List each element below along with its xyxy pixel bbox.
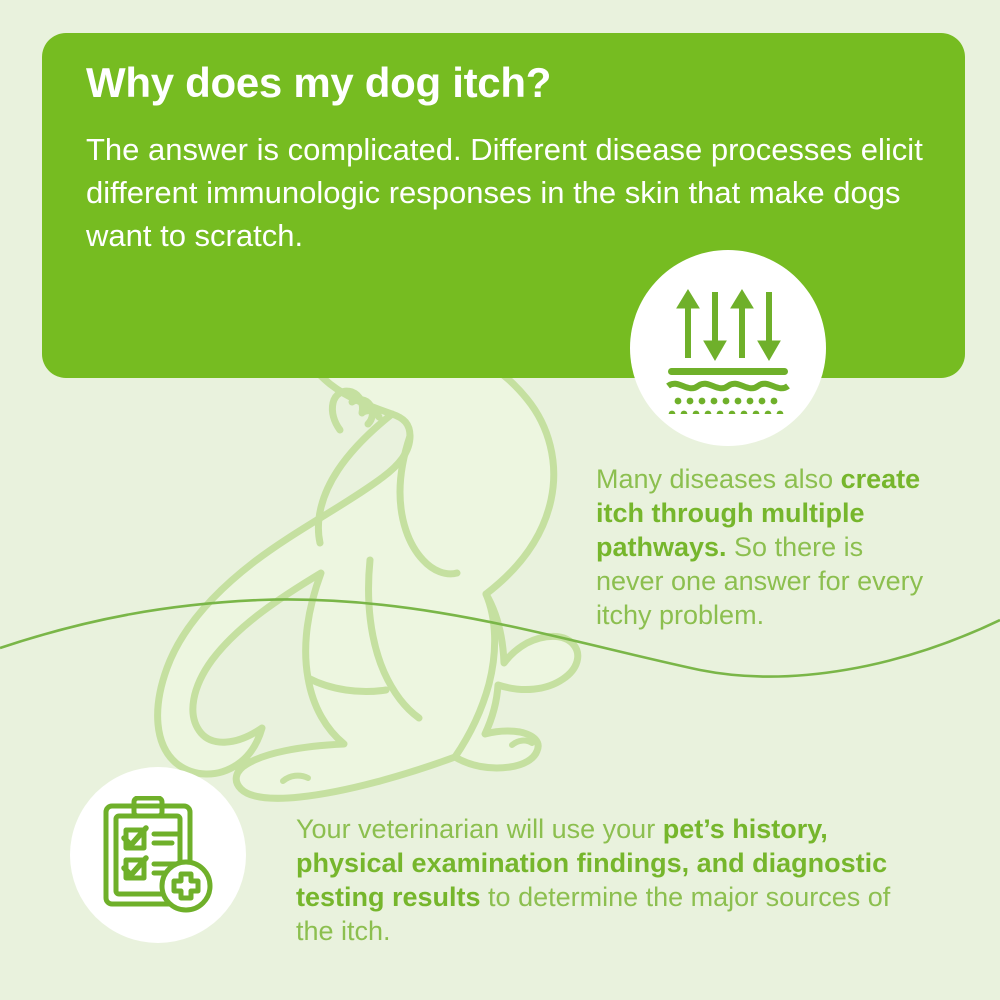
clipboard-checklist-medical-icon [102,796,214,914]
page-title: Why does my dog itch? [86,60,551,106]
callout-segment: Your veterinarian will use your [296,814,663,844]
skin-barrier-icon-circle [630,250,826,446]
clipboard-icon-circle [70,767,246,943]
hero-panel: Why does my dog itch? The answer is comp… [42,33,965,378]
callout-segment: Many diseases also [596,464,841,494]
skin-barrier-callout-text: Many diseases also create itch through m… [596,462,926,632]
hero-body-text: The answer is complicated. Different dis… [86,128,956,257]
skin-barrier-arrows-icon [662,282,794,414]
clipboard-callout-text: Your veterinarian will use your pet’s hi… [296,812,906,948]
infographic-canvas: Why does my dog itch? The answer is comp… [0,0,1000,1000]
